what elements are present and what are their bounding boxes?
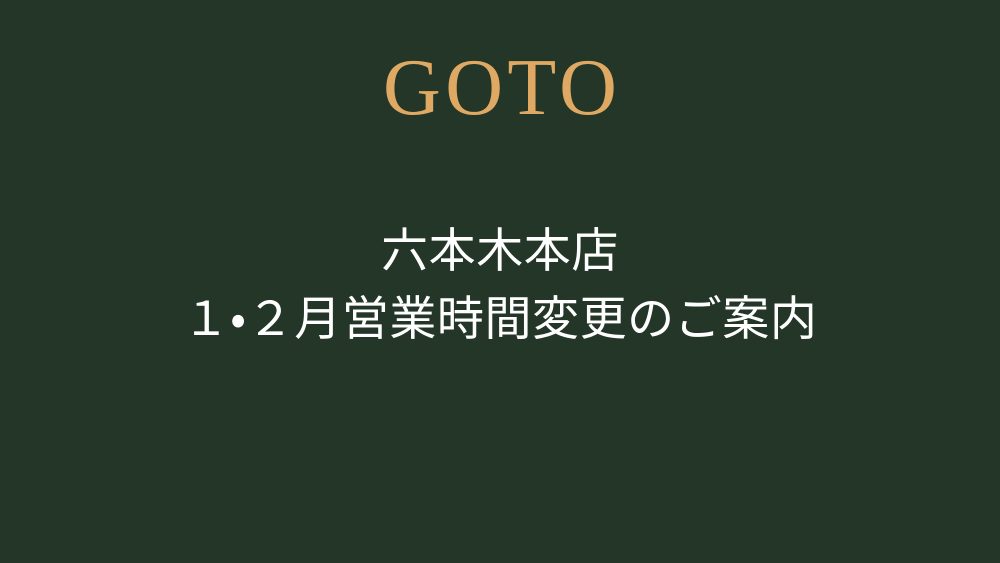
empty-lower-area: [0, 380, 1000, 563]
announcement-headline: 六本木本店 １・２月営業時間変更のご案内: [0, 218, 1000, 354]
brand-logo: GOTO: [0, 40, 1000, 136]
headline-line-notice: １・２月営業時間変更のご案内: [183, 286, 818, 354]
brand-wordmark: GOTO: [379, 48, 622, 128]
headline-line-store-name: 六本木本店: [381, 218, 619, 286]
promotional-banner: GOTO 六本木本店 １・２月営業時間変更のご案内: [0, 0, 1000, 563]
